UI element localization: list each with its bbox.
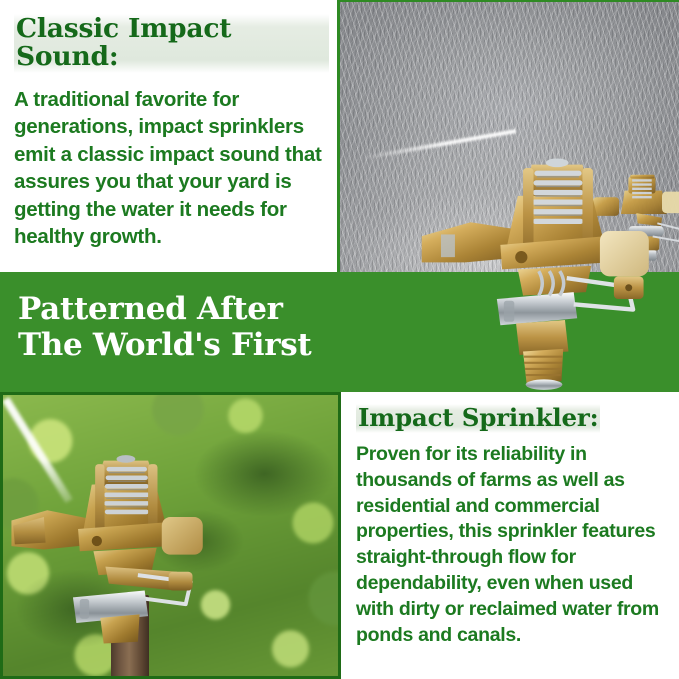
heading-classic-impact-sound: Classic Impact Sound:: [14, 14, 329, 73]
body-impact-sprinkler: Proven for its reliability in thousands …: [356, 442, 675, 649]
heading-impact-sprinkler: Impact Sprinkler:: [356, 404, 600, 433]
green-banner: Patterned After The World's First: [0, 272, 679, 392]
banner-headline: Patterned After The World's First: [18, 292, 311, 364]
banner-line-2: The World's First: [18, 328, 311, 364]
water-fan-pattern: [360, 34, 679, 272]
riser-pipe: [111, 595, 149, 679]
banner-line-1: Patterned After: [18, 292, 311, 328]
body-classic-impact-sound: A traditional favorite for generations, …: [14, 86, 329, 251]
foliage-shadow-overlay: [3, 395, 338, 676]
product-infographic: Classic Impact Sound: A traditional favo…: [0, 0, 679, 679]
photo-sprinkler-spraying-water: [337, 0, 679, 272]
panel-classic-impact-sound: Classic Impact Sound: A traditional favo…: [0, 0, 337, 272]
photo-sprinkler-in-foliage: [0, 392, 341, 679]
panel-impact-sprinkler: Impact Sprinkler: Proven for its reliabi…: [344, 392, 679, 679]
